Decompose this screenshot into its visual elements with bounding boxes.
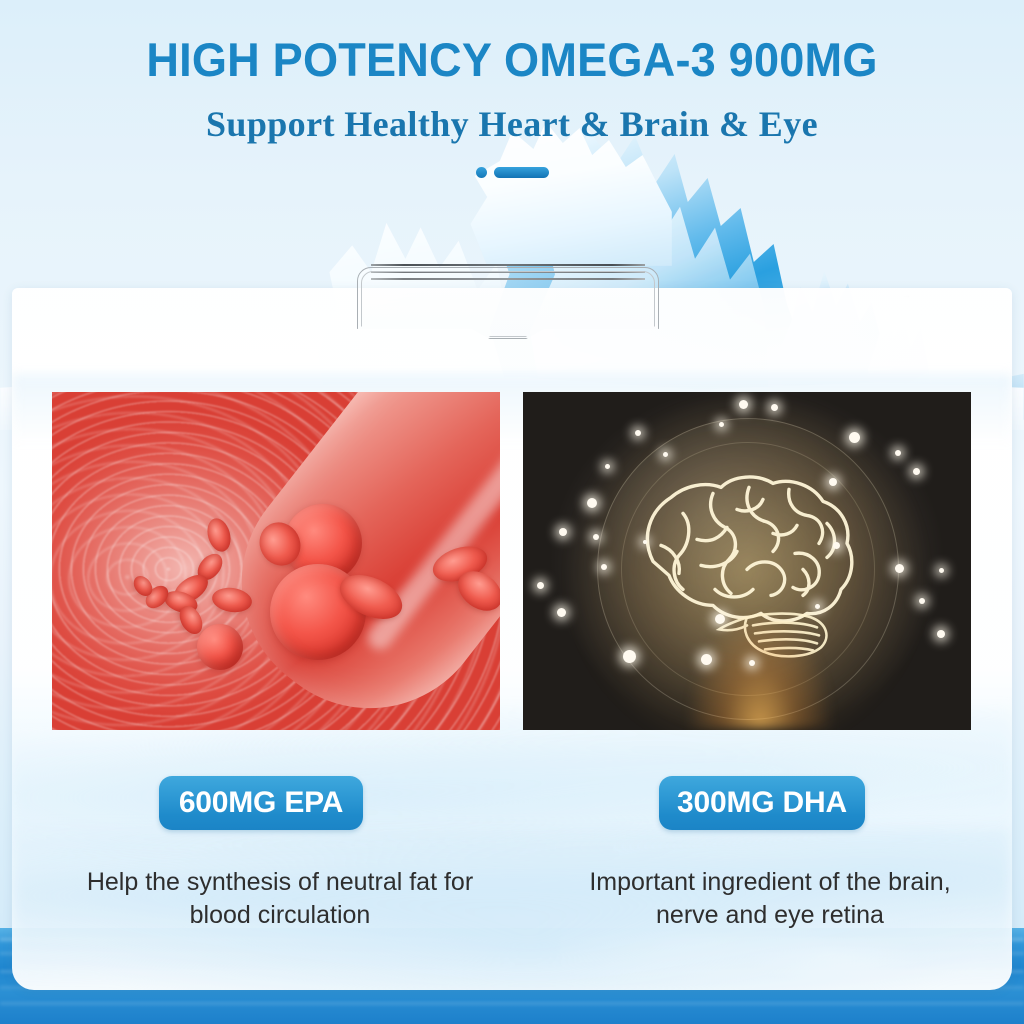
sparkle-particle <box>913 468 920 475</box>
sparkle-particle <box>593 534 599 540</box>
water-ripple <box>0 1002 1024 1005</box>
divider-dot-icon <box>476 167 487 178</box>
sparkle-particle <box>557 608 566 617</box>
sparkle-particle <box>605 464 610 469</box>
sparkle-particle <box>771 404 778 411</box>
sparkle-particle <box>937 630 945 638</box>
sparkle-particle <box>719 422 724 427</box>
sparkle-particle <box>895 450 901 456</box>
brain-illustration <box>523 392 971 730</box>
sparkle-particle <box>601 564 607 570</box>
sparkle-particle <box>829 478 837 486</box>
sparkle-particle <box>739 400 748 409</box>
sparkle-particle <box>559 528 567 536</box>
divider-bar-icon <box>494 167 549 178</box>
sparkle-particle <box>715 614 725 624</box>
poster-canvas: → HIGH POTENCY OMEGA-3 900MG Support Hea… <box>0 0 1024 1024</box>
badge-epa: 600MG EPA <box>159 776 363 830</box>
sparkle-particle <box>895 564 904 573</box>
sparkle-particle <box>623 650 636 663</box>
panel-image-brain <box>523 392 971 730</box>
sparkle-particle <box>919 598 925 604</box>
page-title: HIGH POTENCY OMEGA-3 900MG <box>20 32 1003 87</box>
sparkle-particle <box>833 542 840 549</box>
clipboard-clip-icon <box>357 255 659 345</box>
badge-dha: 300MG DHA <box>659 776 865 830</box>
light-flare <box>685 608 835 728</box>
sparkle-particle <box>635 430 641 436</box>
sparkle-particle <box>815 604 820 609</box>
clip-bar-line <box>371 264 645 266</box>
sparkle-particle <box>587 498 597 508</box>
sparkle-particle <box>939 568 944 573</box>
sparkle-particle <box>849 432 860 443</box>
red-blood-cell <box>197 624 243 670</box>
sparkle-particle <box>663 452 668 457</box>
sparkle-particle <box>701 654 712 665</box>
caption-epa: Help the synthesis of neutral fat for bl… <box>70 866 490 932</box>
caption-dha: Important ingredient of the brain, nerve… <box>560 866 980 932</box>
page-subtitle: Support Healthy Heart & Brain & Eye <box>0 103 1024 145</box>
sparkle-particle <box>537 582 544 589</box>
blood-vessel-illustration <box>52 392 500 730</box>
sparkle-particle <box>749 660 755 666</box>
sparkle-particle <box>643 540 647 544</box>
panel-image-blood-vessel <box>52 392 500 730</box>
title-divider <box>0 165 1024 179</box>
